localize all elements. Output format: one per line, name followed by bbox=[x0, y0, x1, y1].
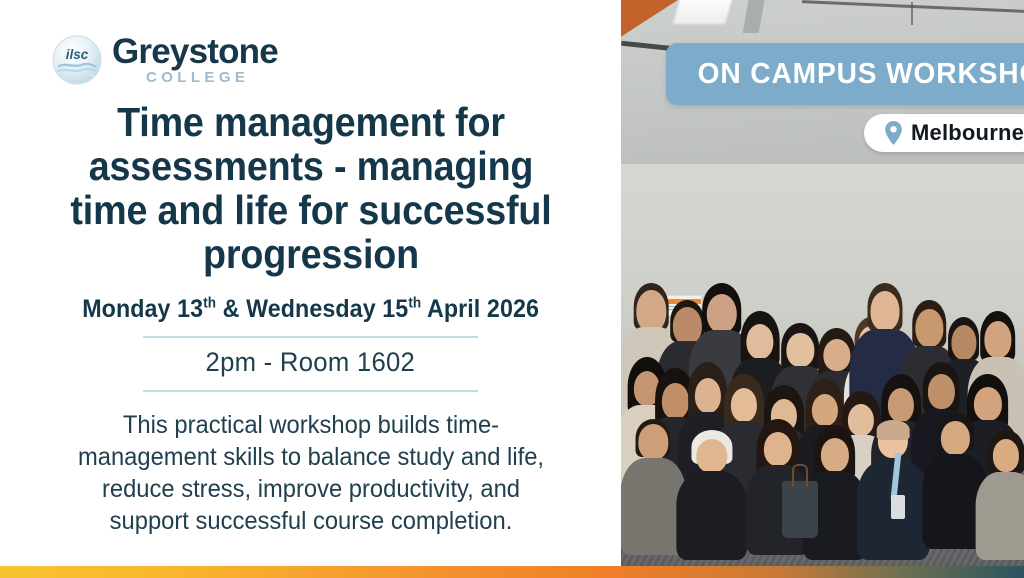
event-date-middle: & Wednesday 15 bbox=[216, 295, 408, 323]
bottom-accent-bar bbox=[0, 566, 1024, 578]
person bbox=[681, 430, 741, 560]
photo-lanyard-badge bbox=[891, 495, 905, 519]
flyer-canvas: ilsc Greystone COLLEGE Time management f… bbox=[0, 0, 1024, 578]
map-pin-icon bbox=[884, 121, 903, 145]
brand-subtitle: COLLEGE bbox=[146, 70, 249, 85]
ilsc-circle-logo-icon: ilsc bbox=[52, 35, 102, 85]
event-date-prefix: Monday 13 bbox=[82, 295, 203, 323]
on-campus-workshop-banner: ON CAMPUS WORKSHOP bbox=[666, 43, 1024, 105]
classroom-photo-scene: ON CAMPUS WORKSHOP Melbourne bbox=[621, 0, 1024, 566]
left-text-panel: ilsc Greystone COLLEGE Time management f… bbox=[0, 0, 621, 566]
photo-handbag bbox=[782, 481, 818, 538]
person bbox=[625, 419, 681, 555]
divider-above-time bbox=[143, 336, 478, 338]
location-label: Melbourne bbox=[911, 120, 1024, 146]
location-badge: Melbourne bbox=[864, 114, 1024, 152]
event-date-suffix: April 2026 bbox=[421, 295, 539, 323]
svg-text:ilsc: ilsc bbox=[66, 47, 89, 62]
event-date-ordinal-2: th bbox=[408, 296, 421, 312]
event-date: Monday 13th & Wednesday 15th April 2026 bbox=[82, 295, 539, 324]
brand-logo-lockup: ilsc Greystone COLLEGE bbox=[52, 34, 278, 85]
event-time-room: 2pm - Room 1602 bbox=[206, 347, 416, 378]
brand-name: Greystone bbox=[112, 34, 278, 69]
photo-handbag-handle bbox=[792, 464, 808, 487]
divider-below-time bbox=[143, 390, 478, 392]
event-photo: ON CAMPUS WORKSHOP Melbourne bbox=[621, 0, 1024, 566]
banner-label: ON CAMPUS WORKSHOP bbox=[698, 58, 1024, 91]
event-date-ordinal-1: th bbox=[203, 296, 216, 312]
person bbox=[980, 430, 1024, 560]
page-title: Time management for assessments - managi… bbox=[53, 101, 568, 276]
brand-wordmark: Greystone COLLEGE bbox=[112, 34, 278, 85]
event-description: This practical workshop builds time-mana… bbox=[64, 409, 558, 537]
